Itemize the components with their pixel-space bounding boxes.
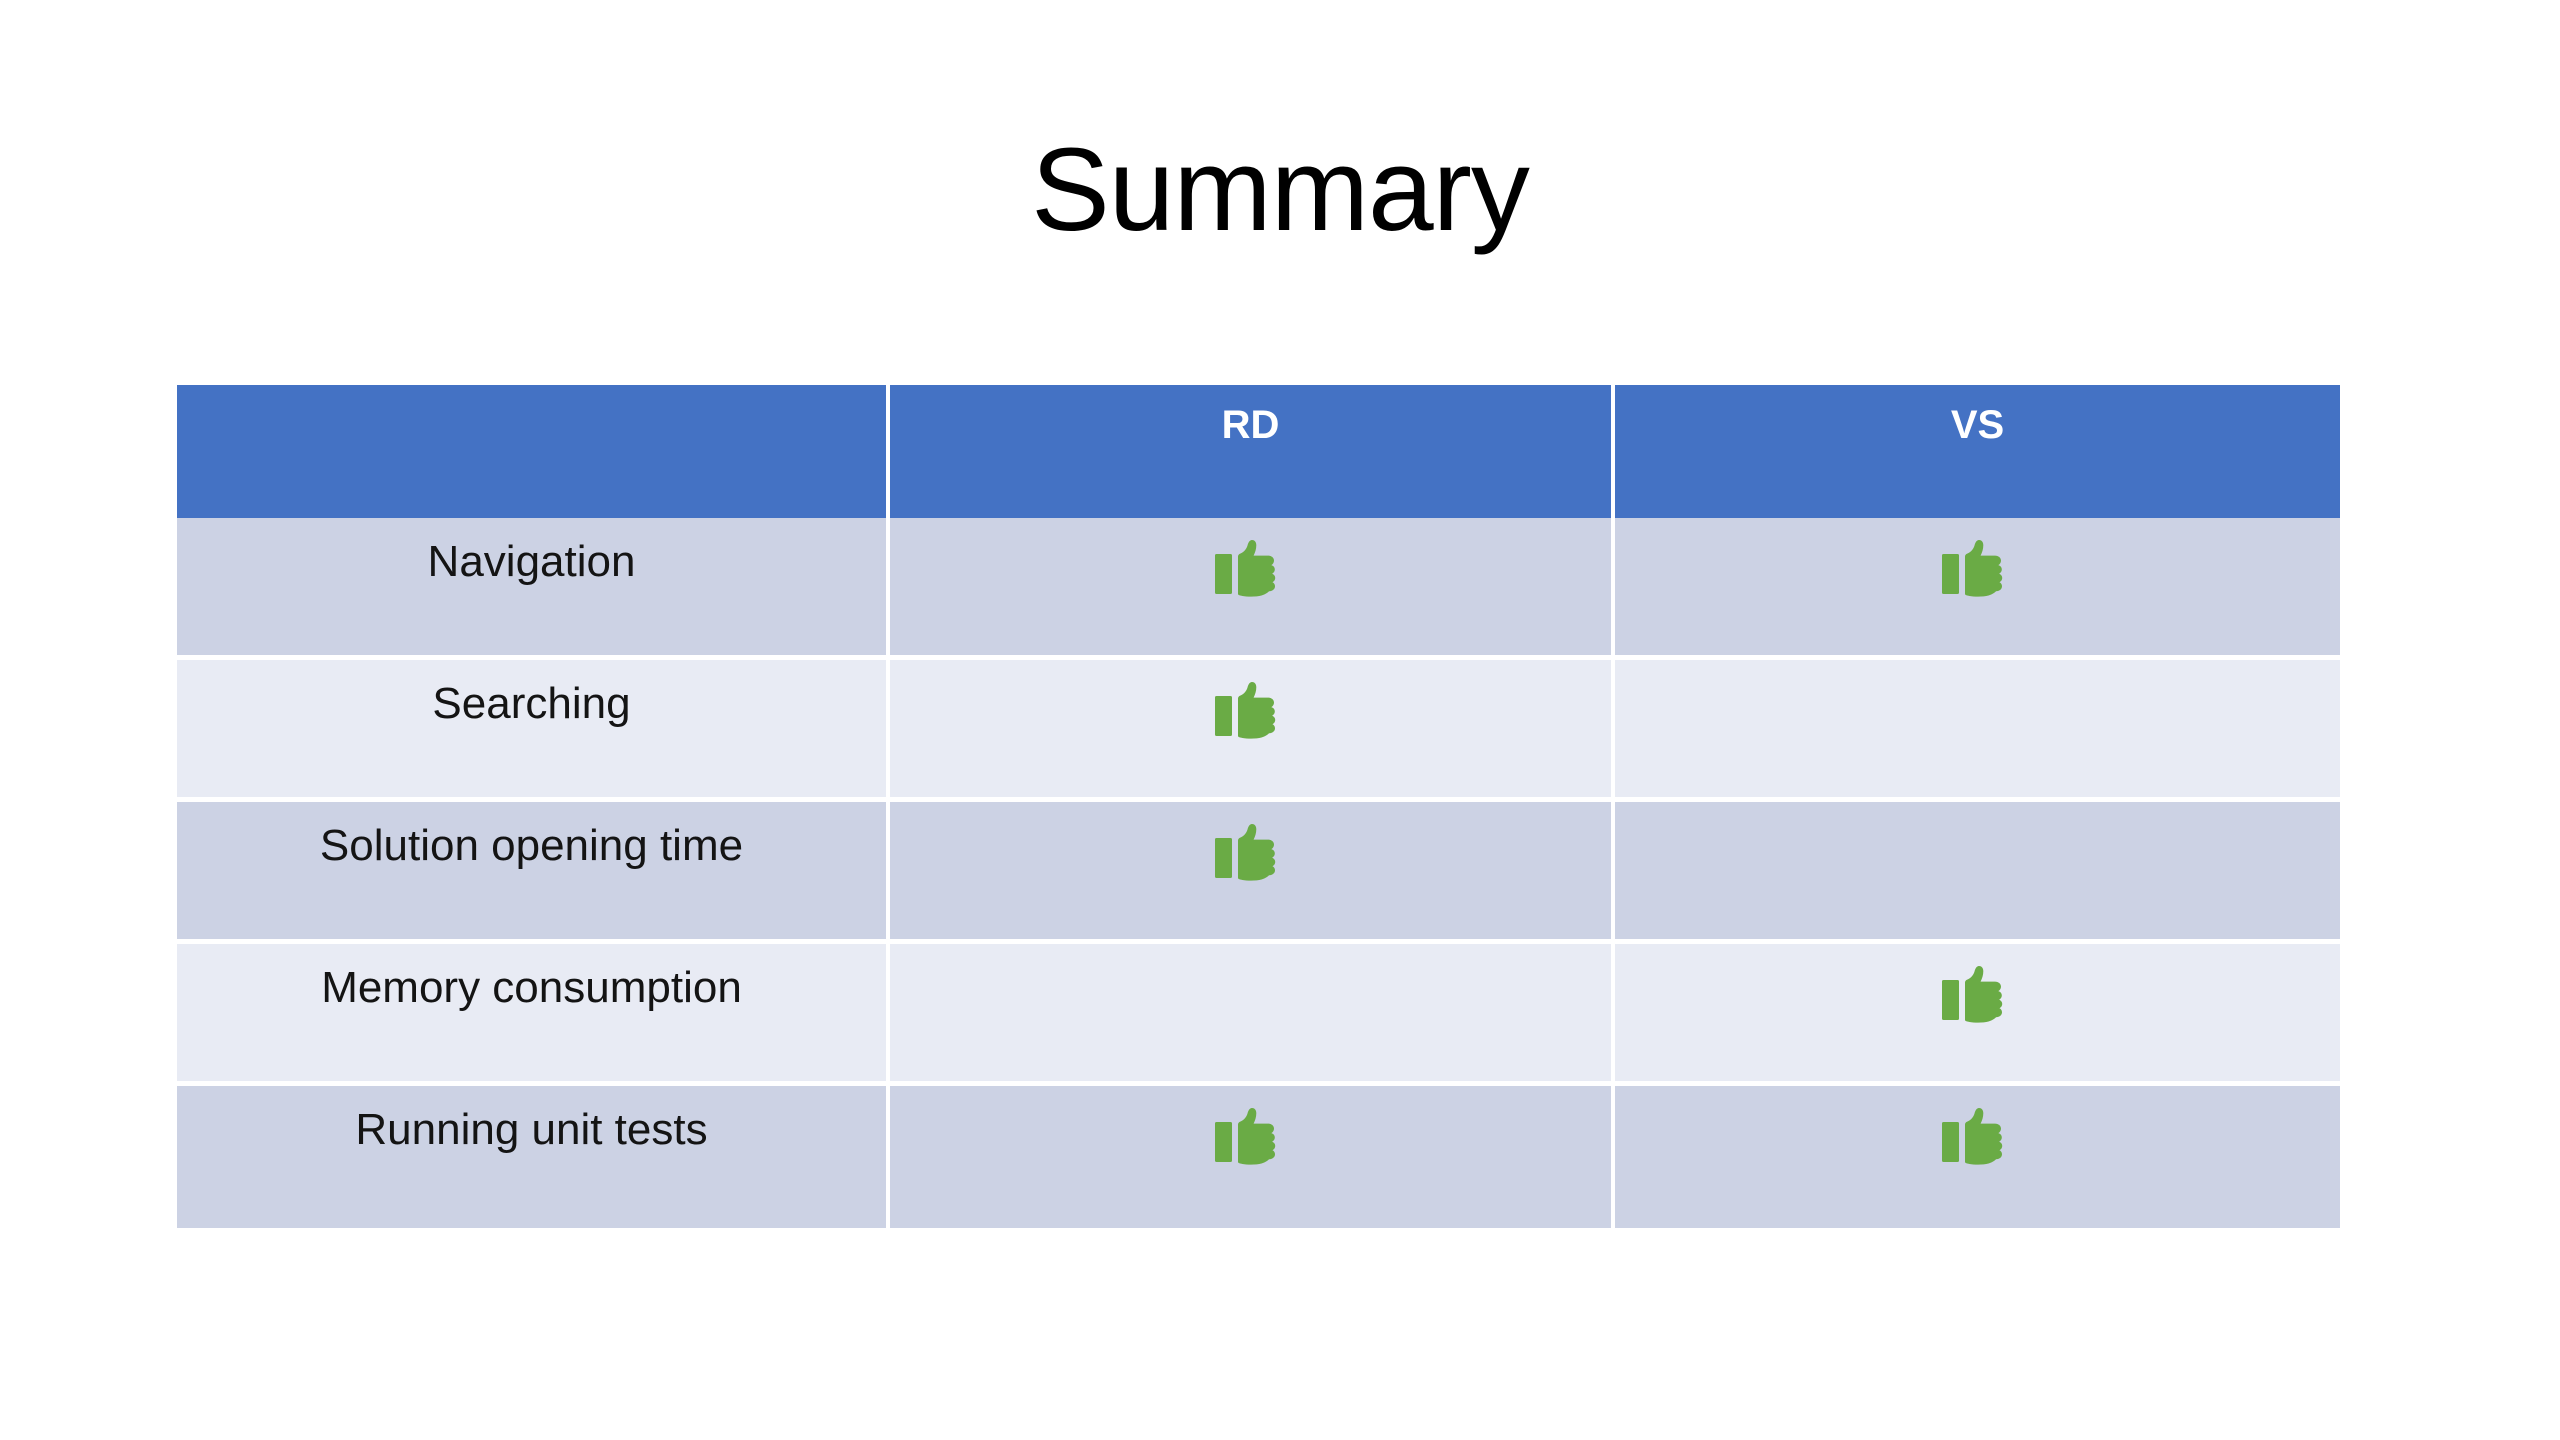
table-body: Navigation [177,518,2340,1228]
rd-cell [890,802,1615,944]
page-title: Summary [0,120,2560,262]
vs-mark [1615,1086,2340,1228]
row-label: Searching [177,660,886,731]
vs-cell [1615,518,2340,660]
vs-mark [1615,518,2340,655]
row-label: Memory consumption [177,944,886,1015]
table-row: Solution opening time [177,802,2340,944]
summary-comparison-table: RD VS Navigation [177,385,2340,1228]
vs-mark [1615,944,2340,1081]
rd-mark-empty [890,944,1611,1081]
rd-cell [890,660,1615,802]
rd-cell [890,518,1615,660]
thumbs-up-icon [1214,1106,1288,1168]
row-label-cell: Searching [177,660,890,802]
table-row: Memory consumption [177,944,2340,1086]
row-label-cell: Navigation [177,518,890,660]
thumbs-up-icon [1214,822,1288,884]
vs-mark-empty [1615,660,2340,797]
rd-cell [890,944,1615,1086]
vs-cell [1615,944,2340,1086]
row-label-cell: Solution opening time [177,802,890,944]
thumbs-up-icon [1214,680,1288,742]
table-header-row: RD VS [177,385,2340,518]
vs-mark-empty [1615,802,2340,939]
row-label-cell: Memory consumption [177,944,890,1086]
rd-cell [890,1086,1615,1228]
thumbs-up-icon [1941,1106,2015,1168]
row-label: Solution opening time [177,802,886,873]
column-header-vs: VS [1615,385,2340,518]
thumbs-up-icon [1941,538,2015,600]
row-label: Running unit tests [177,1086,886,1157]
rd-mark [890,518,1611,655]
vs-cell [1615,1086,2340,1228]
column-header-feature [177,385,890,518]
table-row: Running unit tests [177,1086,2340,1228]
table-row: Navigation [177,518,2340,660]
column-header-rd: RD [890,385,1615,518]
rd-mark [890,802,1611,939]
row-label: Navigation [177,518,886,589]
rd-mark [890,660,1611,797]
thumbs-up-icon [1941,964,2015,1026]
vs-cell [1615,802,2340,944]
table-header: RD VS [177,385,2340,518]
vs-cell [1615,660,2340,802]
rd-mark [890,1086,1611,1228]
table-row: Searching [177,660,2340,802]
row-label-cell: Running unit tests [177,1086,890,1228]
thumbs-up-icon [1214,538,1288,600]
